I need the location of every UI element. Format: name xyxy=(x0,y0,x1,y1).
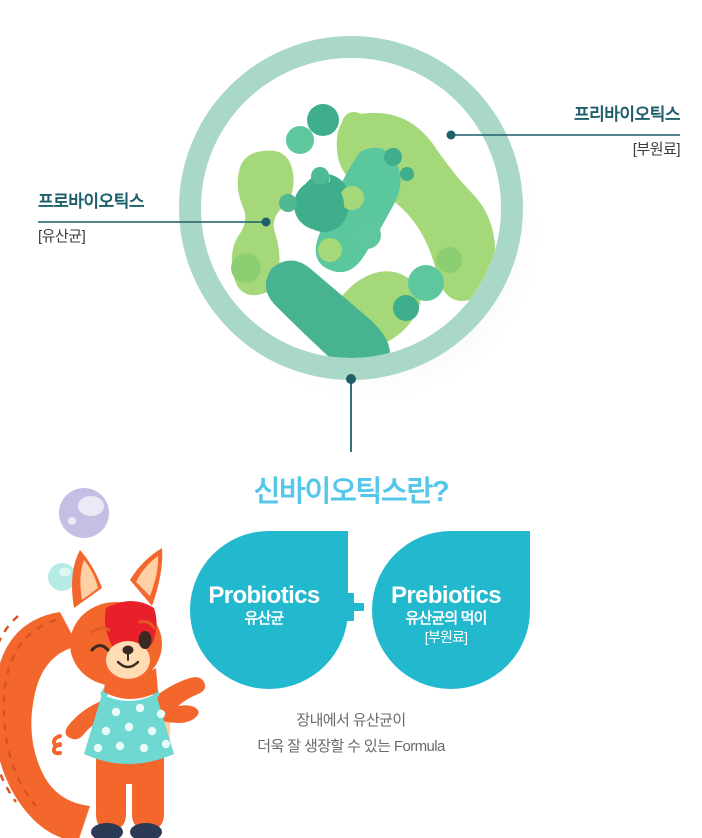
caption-line-1: 장내에서 유산균이 xyxy=(0,708,702,734)
prebiotics-droplet-text: Prebiotics 유산균의 먹이 [부원료] xyxy=(366,583,526,646)
probiotic-callout-subtitle: [유산균] xyxy=(38,225,144,246)
bubble-cyan xyxy=(48,563,76,591)
prebiotic-callout-subtitle: [부원료] xyxy=(574,138,680,159)
bacteria-coccus xyxy=(353,221,381,249)
prebiotic-callout-title: 프리바이오틱스 xyxy=(574,100,680,125)
bacteria-coccus-center xyxy=(294,180,344,230)
prebiotics-en-label: Prebiotics xyxy=(366,583,526,608)
prebiotics-kr-label: 유산균의 먹이 xyxy=(366,610,526,629)
probiotics-kr-label: 유산균 xyxy=(184,610,344,629)
bacteria-coccus xyxy=(307,104,339,136)
bacteria-coccus xyxy=(231,253,261,283)
bacteria-coccus xyxy=(436,247,462,273)
prebiotics-kr-sublabel: [부원료] xyxy=(366,629,526,646)
probiotic-callout: 프로바이오틱스 [유산균] xyxy=(38,187,144,246)
probiotic-callout-title: 프로바이오틱스 xyxy=(38,187,144,212)
bacteria-coccus xyxy=(408,265,444,301)
bacteria-coccus xyxy=(342,112,366,136)
prebiotic-callout: 프리바이오틱스 [부원료] xyxy=(574,100,680,159)
infographic-canvas: 프리바이오틱스 [부원료] 프로바이오틱스 [유산균] 신바이오틱스란? Pro… xyxy=(0,0,702,838)
probiotics-droplet-text: Probiotics 유산균 xyxy=(184,583,344,629)
squirrel-eye-right xyxy=(139,631,152,649)
bacteria-coccus xyxy=(286,126,314,154)
caption-block: 장내에서 유산균이 더욱 잘 생장할 수 있는 Formula xyxy=(0,708,702,761)
squirrel-mascot xyxy=(0,548,205,838)
probiotics-en-label: Probiotics xyxy=(184,583,344,608)
bacteria-coccus xyxy=(384,148,402,166)
caption-line-2: 더욱 잘 생장할 수 있는 Formula xyxy=(0,734,702,760)
bacteria-coccus xyxy=(311,167,329,185)
bacteria-coccus xyxy=(279,194,297,212)
section-title: 신바이오틱스란? xyxy=(0,468,702,510)
bacteria-coccus xyxy=(400,167,414,181)
bacteria-coccus xyxy=(393,295,419,321)
bacteria-coccus xyxy=(318,238,342,262)
